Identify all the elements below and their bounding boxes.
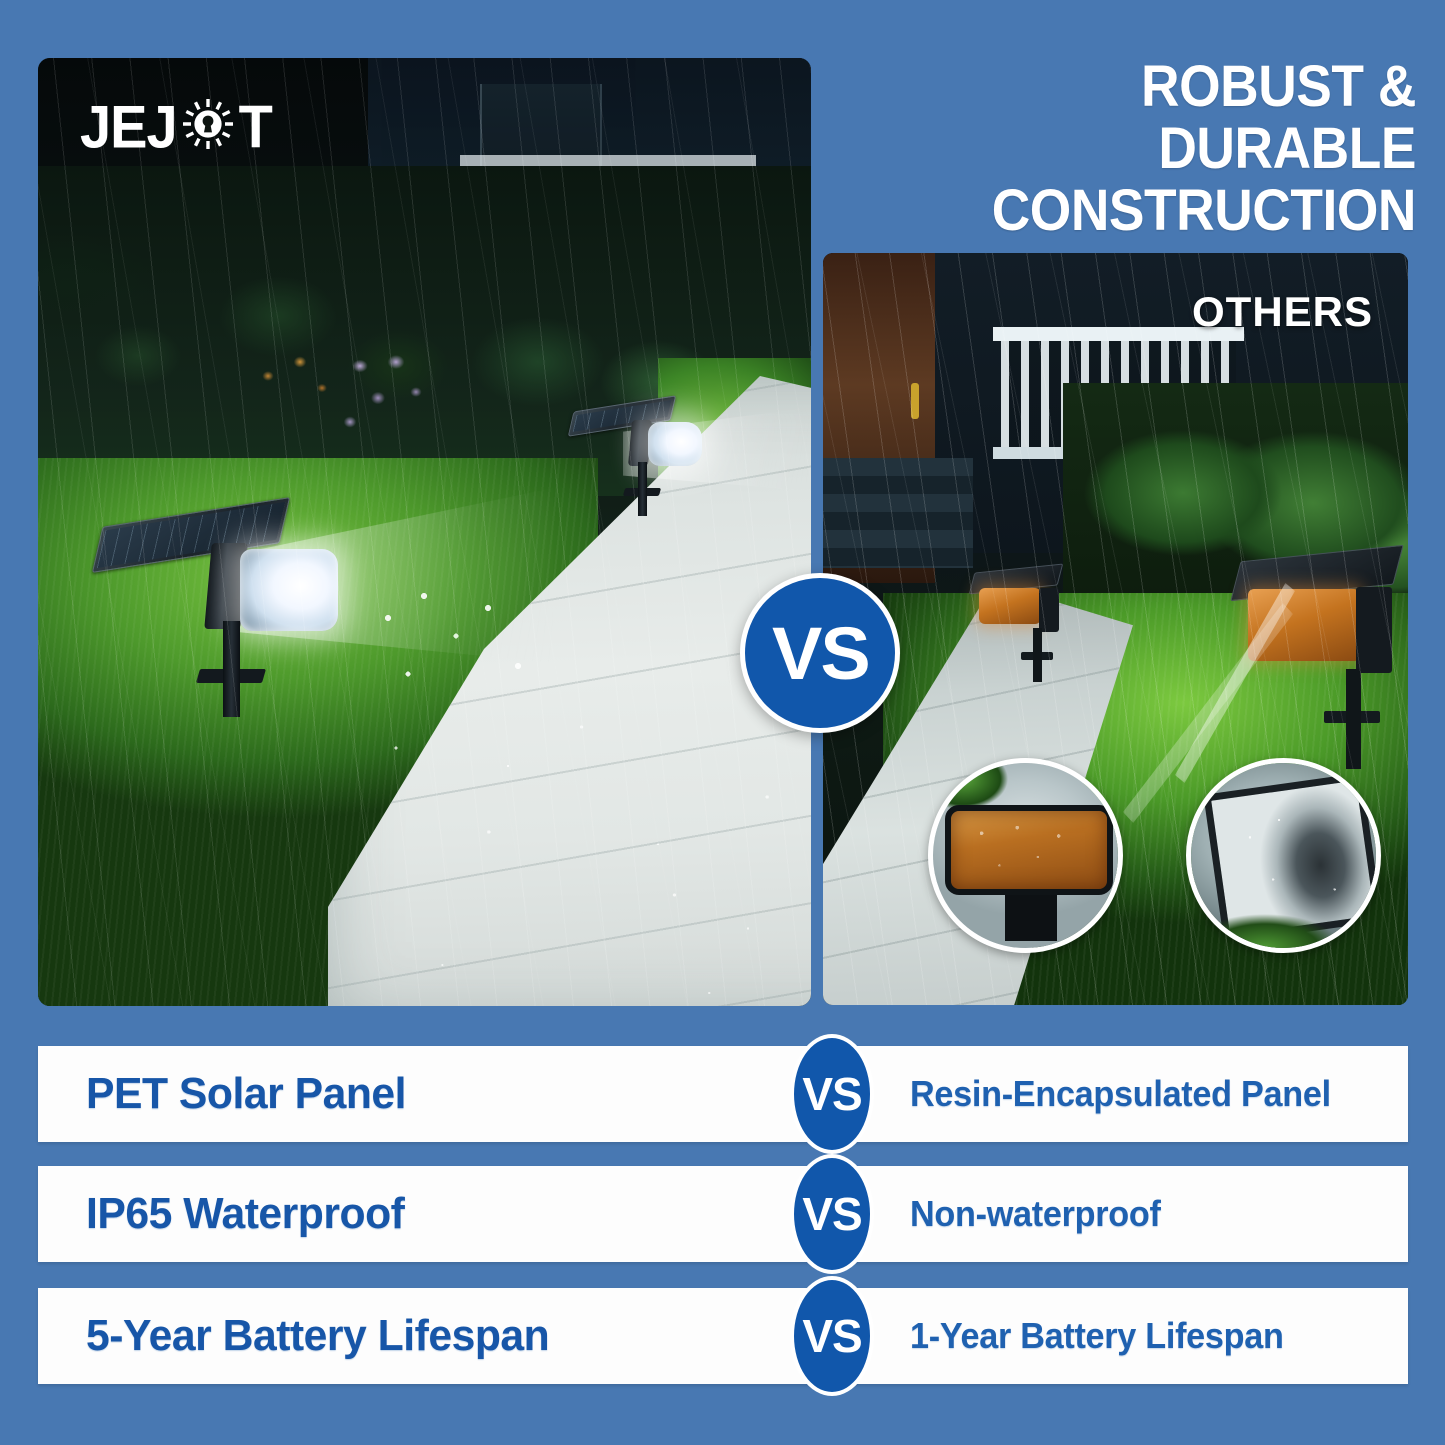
grass-foreground (1191, 892, 1376, 948)
headline-line-2: CONSTRUCTION (884, 180, 1416, 242)
comparison-row: 5-Year Battery Lifespan VS 1-Year Batter… (38, 1288, 1408, 1384)
competitor-spotlight-midground (973, 568, 1083, 686)
vs-badge-row: VS (790, 1276, 874, 1396)
row-ours-label: IP65 Waterproof (86, 1166, 404, 1262)
porch-steps (823, 458, 973, 568)
page-title: ROBUST & DURABLE CONSTRUCTION (884, 56, 1416, 216)
comparison-row: PET Solar Panel VS Resin-Encapsulated Pa… (38, 1046, 1408, 1142)
lamp-mount-bracket (1005, 895, 1057, 941)
vs-badge-label: VS (772, 611, 869, 696)
vs-badge-main: VS (740, 573, 900, 733)
row-theirs-label: 1-Year Battery Lifespan (910, 1288, 1284, 1384)
lamp-body (1356, 587, 1392, 673)
ground-stake (638, 462, 647, 516)
solar-spotlight-foreground (90, 503, 330, 718)
brand-logo: JEJ (80, 94, 272, 159)
inset-water-damaged-light-head (928, 758, 1123, 953)
row-theirs-label: Resin-Encapsulated Panel (910, 1046, 1331, 1142)
row-theirs-label: Non-waterproof (910, 1166, 1161, 1262)
headline-line-1: ROBUST & DURABLE (1141, 54, 1416, 181)
row-ours-label: 5-Year Battery Lifespan (86, 1288, 549, 1384)
brand-logo-text-right: T (239, 91, 272, 161)
solar-spotlight-midground (566, 398, 696, 518)
vs-badge-label: VS (802, 1187, 861, 1241)
row-ours-label: PET Solar Panel (86, 1046, 406, 1142)
sunburst-icon (181, 97, 235, 156)
ground-stake (1346, 669, 1361, 769)
led-head-lit (240, 549, 338, 631)
competitor-spotlight-foreground (1238, 553, 1408, 773)
ground-stake (223, 621, 240, 717)
white-wildflowers (368, 578, 558, 738)
vs-badge-row: VS (790, 1154, 874, 1274)
product-photo-ours: JEJ (38, 58, 811, 1006)
led-head-lit (648, 422, 702, 466)
flooded-lamp-head (945, 805, 1113, 895)
lamp-body (1039, 588, 1059, 632)
vs-badge-label: VS (802, 1067, 861, 1121)
flower-cluster (238, 326, 498, 456)
inset-degraded-solar-panel (1186, 758, 1381, 953)
brand-logo-text-left: JEJ (80, 91, 177, 161)
ground-stake (1033, 628, 1042, 682)
comparison-row: IP65 Waterproof VS Non-waterproof (38, 1166, 1408, 1262)
vs-badge-label: VS (802, 1309, 861, 1363)
amber-lamp-head (979, 588, 1041, 624)
vs-badge-row: VS (790, 1034, 874, 1154)
others-label: OTHERS (1192, 288, 1373, 336)
